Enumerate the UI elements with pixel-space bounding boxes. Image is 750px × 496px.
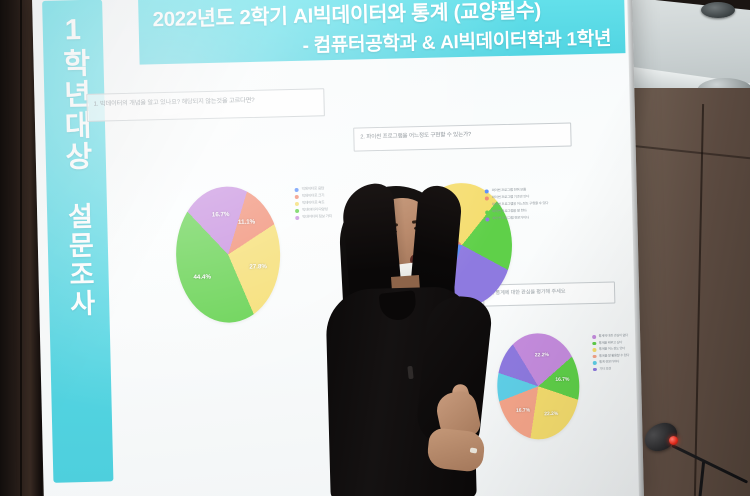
legend-swatch-icon — [593, 354, 597, 358]
legend-swatch-icon — [295, 188, 299, 192]
legend-label: 통계를 어느정도 안다 — [599, 346, 625, 351]
presenter — [318, 180, 518, 496]
slide-sidebar-banner: 1학년대상 설문조사 — [42, 0, 113, 483]
legend-swatch-icon — [592, 335, 596, 339]
legend-label: 통계에 대한 관심이 없다 — [599, 333, 628, 338]
legend-label: 통계를 배우고 싶다 — [599, 340, 622, 345]
sidebar-word-survey: 설문조사 — [61, 202, 96, 319]
pie-slice-label: 27.8% — [249, 263, 267, 270]
pie-slice-label: 22.2% — [535, 352, 549, 358]
pie-slice-label: 16.7% — [516, 408, 530, 414]
pie-slice-label: 16.7% — [212, 211, 230, 218]
pie-slice-label: 11.1% — [238, 218, 255, 225]
presenter-ring — [470, 447, 478, 453]
legend-swatch-icon — [295, 216, 299, 220]
legend-swatch-icon — [593, 367, 597, 371]
legend-swatch-icon — [592, 348, 596, 352]
pie-slice-label: 22.2% — [544, 410, 558, 416]
slide-title-band: 2022년도 2학기 AI빅데이터와 통계 (교양필수) - 컴퓨터공학과 & … — [138, 0, 625, 65]
legend-label: 통계 전문가이다 — [599, 359, 619, 363]
microphone-led-indicator — [669, 436, 678, 445]
pie-slice-label: 44.4% — [193, 273, 211, 280]
legend-label: 통계를 잘 활용할 수 있다 — [599, 353, 629, 358]
legend-swatch-icon — [592, 341, 596, 345]
lecture-room-scene: 1학년대상 설문조사 2022년도 2학기 AI빅데이터와 통계 (교양필수) … — [0, 0, 750, 496]
legend-swatch-icon — [593, 361, 597, 365]
legend-swatch-icon — [295, 195, 299, 199]
pie-slice-label: 16.7% — [555, 377, 569, 383]
question-box-1: 1. 빅데이터의 개념을 알고 있나요? 해당되지 않는것을 고르다면? — [86, 88, 325, 122]
ceiling-speaker-icon — [701, 2, 735, 18]
question-box-2: 2. 파이썬 프로그램을 어느정도 구현할 수 있는가? — [353, 122, 572, 151]
legend-swatch-icon — [295, 202, 299, 206]
pie-1-graphic — [175, 185, 282, 323]
legend-swatch-icon — [295, 209, 299, 213]
legend-label: 기타 의견 — [599, 366, 611, 370]
